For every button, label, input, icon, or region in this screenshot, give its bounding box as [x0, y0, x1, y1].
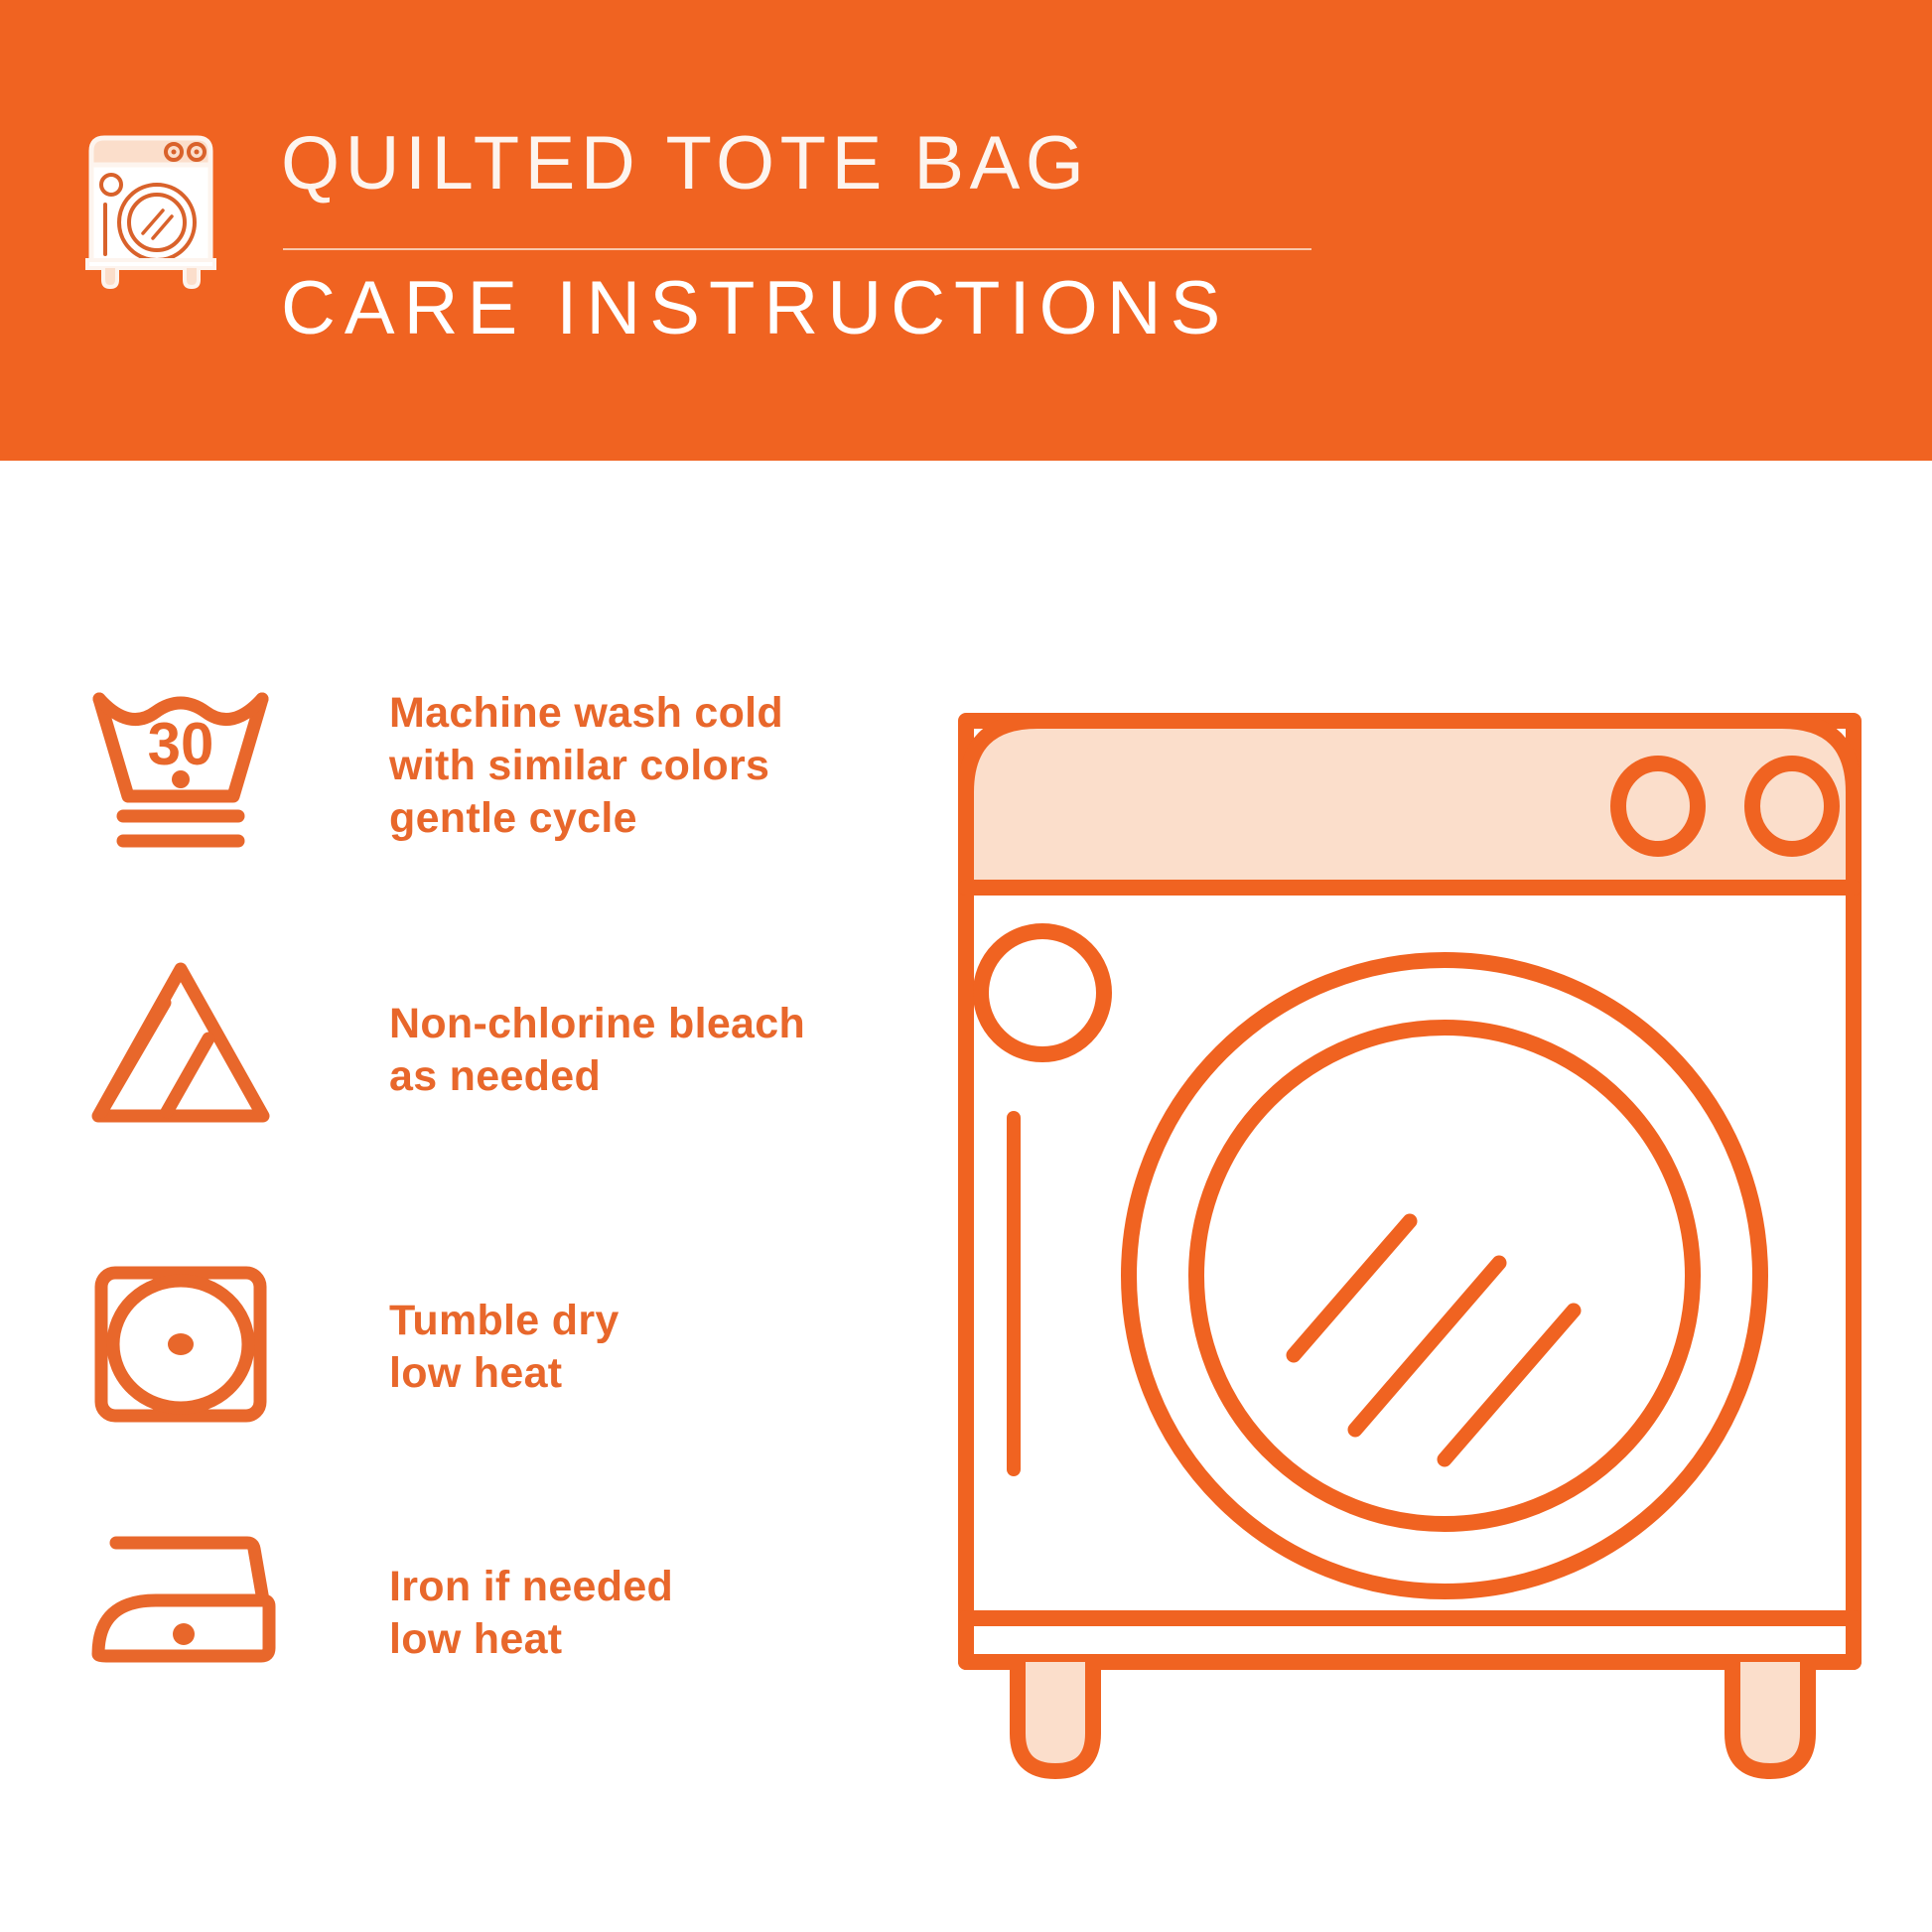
page-title: QUILTED TOTE BAG — [281, 121, 1089, 207]
wash-temperature-value: 30 — [148, 711, 214, 777]
header-band: QUILTED TOTE BAG CARE INSTRUCTIONS — [0, 0, 1932, 461]
page-subtitle: CARE INSTRUCTIONS — [281, 266, 1229, 351]
care-instructions-poster: QUILTED TOTE BAG CARE INSTRUCTIONS 30 — [0, 0, 1932, 1932]
care-instruction-label: Machine wash cold with similar colors ge… — [389, 687, 783, 845]
care-instruction-row: 30 Machine wash cold with similar colors… — [0, 677, 874, 905]
care-instruction-row: Iron if needed low heat — [0, 1513, 874, 1741]
care-instruction-label: Tumble dry low heat — [389, 1295, 620, 1400]
care-instruction-label: Non-chlorine bleach as needed — [389, 998, 805, 1103]
header-text-block: QUILTED TOTE BAG CARE INSTRUCTIONS — [281, 121, 1333, 349]
care-instruction-row: Non-chlorine bleach as needed — [0, 955, 874, 1183]
iron-low-heat-icon — [81, 1513, 280, 1712]
care-instruction-label: Iron if needed low heat — [389, 1561, 673, 1666]
front-load-washing-machine-illustration — [958, 625, 1871, 1857]
washing-machine-icon — [77, 131, 224, 290]
care-instruction-list: 30 Machine wash cold with similar colors… — [0, 461, 894, 1932]
care-instruction-row: Tumble dry low heat — [0, 1245, 874, 1473]
tumble-dry-low-heat-icon — [81, 1245, 280, 1444]
non-chlorine-bleach-triangle-icon — [81, 955, 280, 1154]
wash-tub-30-gentle-icon: 30 — [81, 677, 280, 876]
title-divider — [283, 248, 1311, 250]
